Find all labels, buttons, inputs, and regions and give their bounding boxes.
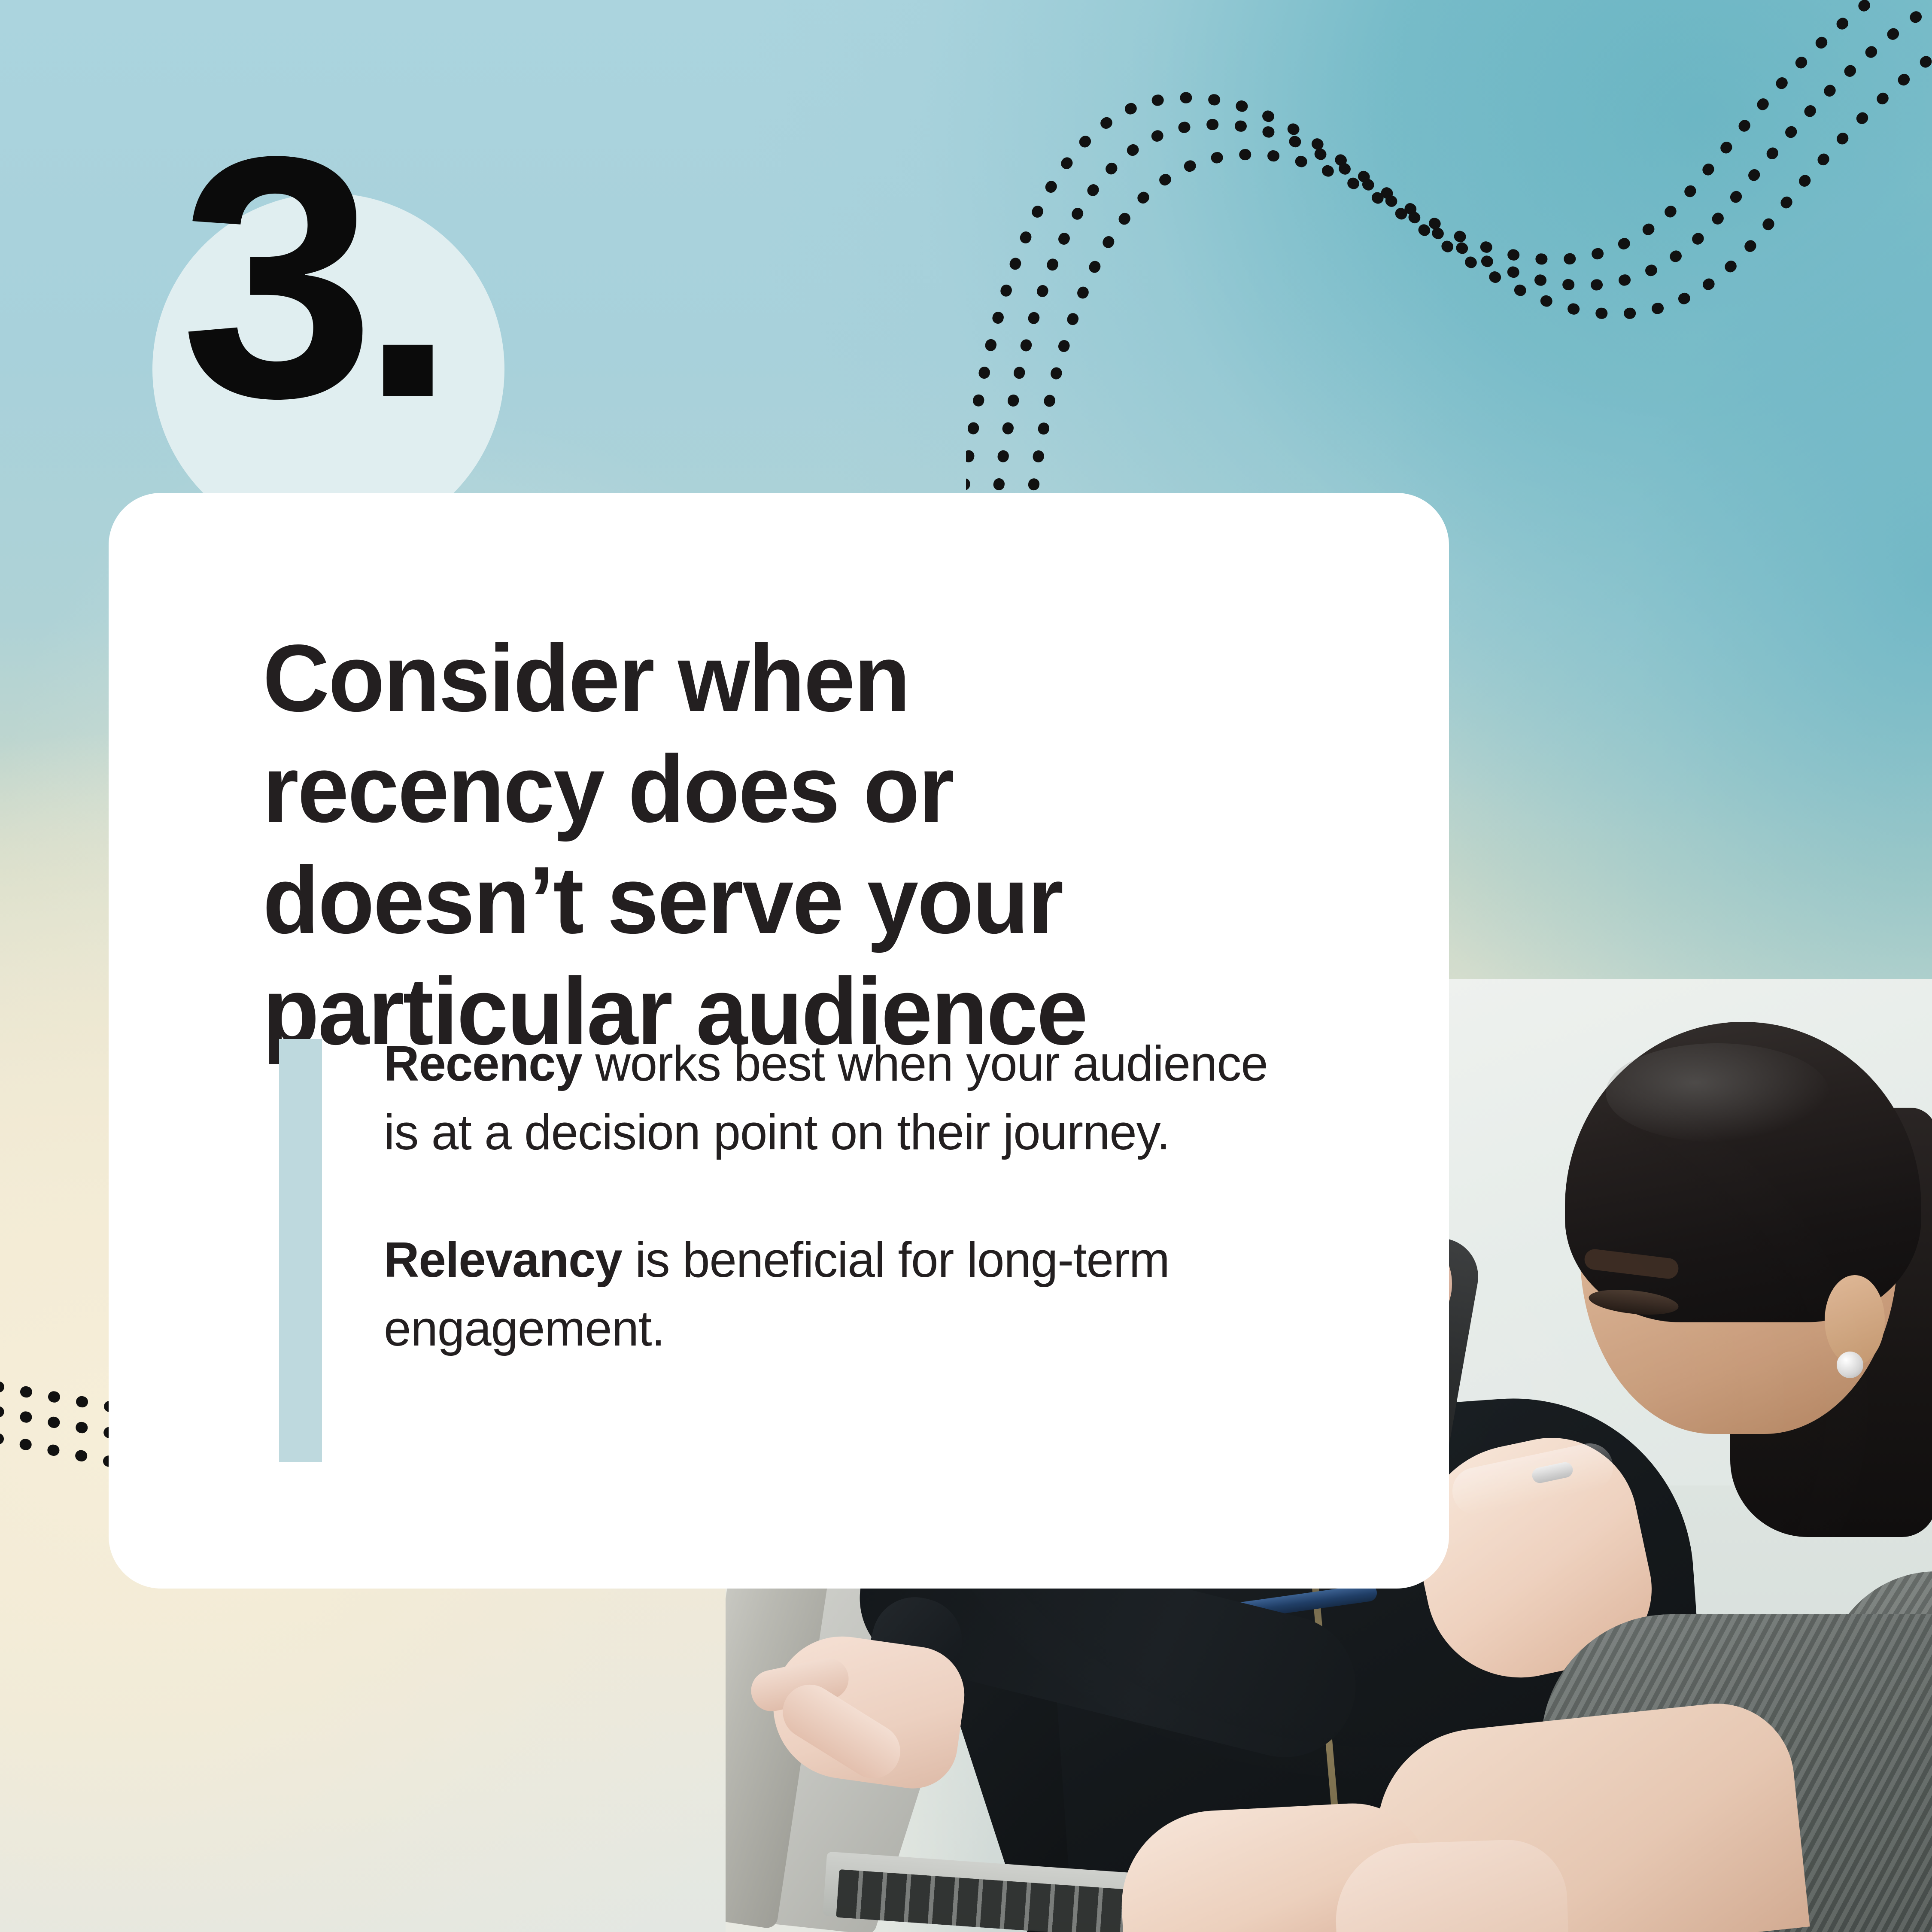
slide-canvas: 3. Consider when recency does or doesn’t…: [0, 0, 1932, 1932]
paragraph-recency-lead: Recency: [384, 1036, 582, 1091]
page-title: Consider when recency does or doesn’t se…: [263, 623, 1245, 1067]
body-paragraphs: Recency works best when your audience is…: [384, 1030, 1306, 1363]
body-block: Recency works best when your audience is…: [279, 1039, 1267, 1462]
paragraph-relevancy: Relevancy is beneficial for long-term en…: [384, 1226, 1306, 1363]
step-number: 3.: [180, 105, 441, 449]
paragraph-recency: Recency works best when your audience is…: [384, 1030, 1306, 1166]
paragraph-relevancy-lead: Relevancy: [384, 1232, 622, 1288]
paragraph-spacer: [384, 1166, 1306, 1226]
accent-bar: [279, 1039, 322, 1462]
